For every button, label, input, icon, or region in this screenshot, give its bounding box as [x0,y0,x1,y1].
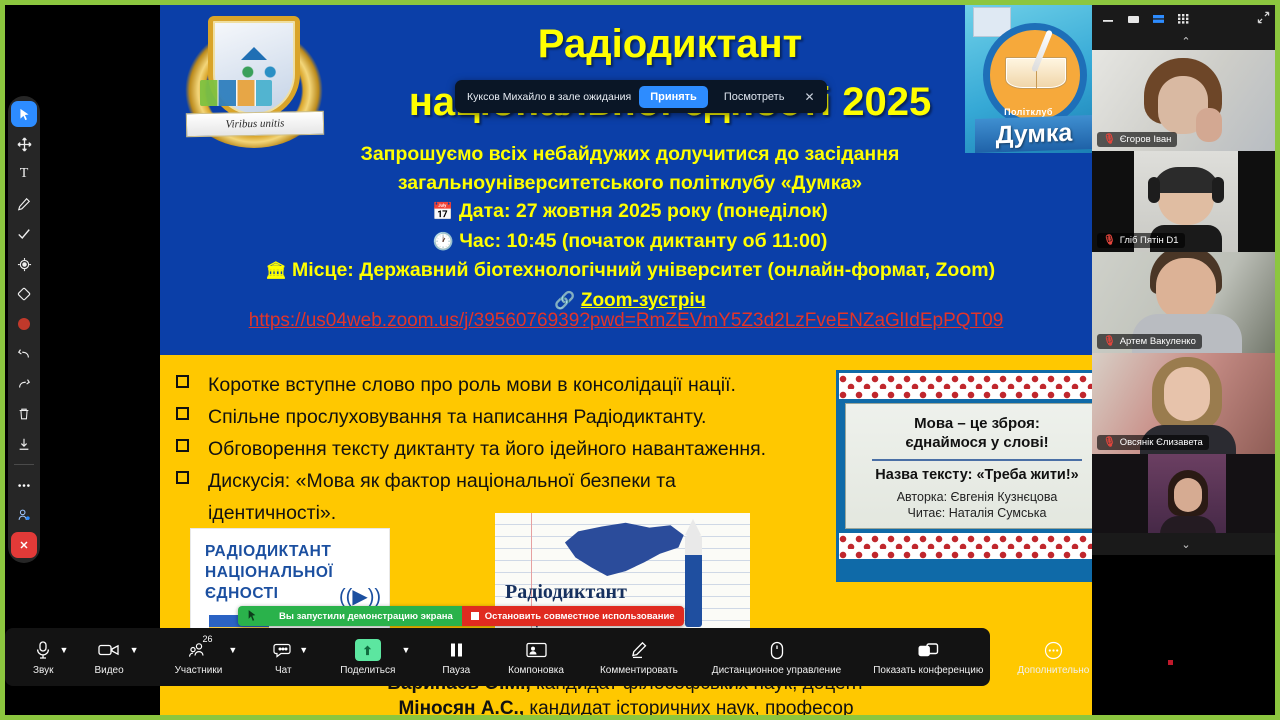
participant-name: Артем Вакуленко [1120,336,1196,347]
participant-name: Гліб Пятін D1 [1120,235,1179,246]
participant-name: Єгоров Іван [1120,134,1172,145]
participants-options-caret[interactable]: ▼ [228,645,241,669]
poster-b-line-1: Радіодиктант [505,579,627,605]
quote-card: Мова – це зброя: єднаймося у слові! Назв… [845,403,1092,529]
chat-bubble-icon [273,638,293,662]
list-item: Обговорення тексту диктанту та його ідей… [174,434,834,464]
chat-options-caret[interactable]: ▼ [299,645,312,669]
checkbox-square-icon [176,439,189,452]
participant-tile[interactable]: 🎙 Овсянік Єлизавета [1092,353,1280,454]
download-icon[interactable] [11,431,37,457]
participant-tile[interactable]: 🎙 Гліб Пятін D1 [1092,151,1280,252]
list-item: Коротке вступне слово про роль мови в ко… [174,370,834,400]
checkbox-square-icon [176,407,189,420]
participant-tile[interactable]: 🎙 Єгоров Іван [1092,50,1280,151]
cursor-icon [247,610,257,622]
more-button[interactable]: Дополнительно [1011,628,1095,686]
university-crest-icon: Viribus unitis [172,8,337,156]
microphone-icon [35,638,51,662]
checkmark-icon[interactable] [11,221,37,247]
camera-icon [98,638,120,662]
move-arrows-icon[interactable] [11,131,37,157]
gallery-grid-icon[interactable] [1177,13,1190,24]
remote-control-button[interactable]: Дистанционное управление [706,628,847,686]
participants-button[interactable]: 26 Участники [169,628,229,686]
pen-icon [685,535,702,627]
participant-name-badge: 🎙 Артем Вакуленко [1097,334,1202,349]
video-button[interactable]: Видео [88,628,129,686]
spotlight-icon[interactable] [11,251,37,277]
more-dots-icon [1044,638,1063,662]
participant-tile[interactable]: 🎙 Артем Вакуленко [1092,252,1280,353]
ukraine-map-icon [557,519,689,581]
person-icon[interactable] [11,502,37,528]
redo-arrow-icon[interactable] [11,371,37,397]
close-x-icon[interactable] [11,532,37,558]
calendar-icon: 📅 [432,202,453,221]
audio-button[interactable]: Звук [27,628,60,686]
quote-line-2: єднаймося у слові! [854,433,1092,452]
select-tool[interactable] [11,101,37,127]
slide-title-line1: Радіодиктант [350,15,990,73]
close-icon[interactable]: ✕ [800,90,818,104]
share-options-caret[interactable]: ▼ [401,645,414,669]
pause-button[interactable]: Пауза [436,628,476,686]
text-reader: Читає: Наталія Сумська [854,506,1092,520]
participants-video-strip: ⌃ 🎙 Єгоров Іван 🎙 Гліб Пятін D1 [1092,5,1280,555]
quote-line-1: Мова – це зброя: [854,414,1092,433]
list-item: Спільне прослуховування та написання Рад… [174,402,834,432]
video-label: Видео [94,665,123,676]
poster-a-line-2: НАЦІОНАЛЬНОЇ [205,562,333,583]
link-icon: 🔗 [554,291,575,310]
date-line: Дата: 27 жовтня 2025 року (понеділок) [459,200,828,222]
pause-icon [449,638,464,662]
share-screen-button[interactable]: Поделиться [334,628,401,686]
undo-arrow-icon[interactable] [11,341,37,367]
recording-indicator-dot [1168,660,1173,665]
chevron-down-icon[interactable]: ⌄ [1092,533,1280,555]
annotate-pencil-icon [630,638,648,662]
waiting-room-notification: Куксов Михайло в зале ожидания Принять П… [455,80,827,113]
stop-share-segment[interactable]: Остановить совместное использование [462,606,684,626]
text-t-icon[interactable]: T [11,161,37,187]
chevron-up-icon[interactable]: ⌃ [1092,32,1280,50]
time-line: Час: 10:45 (початок диктанту об 11:00) [459,230,827,252]
checkbox-square-icon [176,471,189,484]
list-item-label: Спільне прослуховування та написання Рад… [208,406,706,428]
eraser-icon[interactable] [11,281,37,307]
list-item-label: Обговорення тексту диктанту та його ідей… [208,438,766,460]
participant-name-badge: 🎙 Єгоров Іван [1097,132,1177,147]
pause-label: Пауза [442,665,470,676]
fullscreen-expand-icon[interactable] [1257,11,1270,27]
show-meeting-button[interactable]: Показать конференцию [867,628,989,686]
embroidery-pattern-top [839,373,1092,399]
zoom-shared-screen-window: Viribus unitis Радіодиктант національної… [0,0,1280,720]
mic-off-icon: 🎙 [1103,235,1116,246]
checkbox-square-icon [176,375,189,388]
show-meeting-label: Показать конференцию [873,665,983,676]
sharing-active-segment: Вы запустили демонстрацию экрана [238,606,462,626]
mic-off-icon: 🎙 [1103,437,1116,448]
mic-off-icon: 🎙 [1103,134,1116,145]
split-view-icon[interactable] [1152,14,1165,24]
layout-icon [526,638,547,662]
text-title: Назва тексту: «Треба жити!» [854,467,1092,483]
share-label: Поделиться [340,665,395,676]
participants-count-badge: 26 [202,634,212,644]
place-line: Місце: Державний біотехнологічний універ… [292,259,995,281]
participants-label: Участники [175,665,223,676]
video-options-caret[interactable]: ▼ [130,645,143,669]
invite-line-2: загальноуніверситетського політклубу «Ду… [220,169,1040,198]
waiting-room-message: Куксов Михайло в зале ожидания [467,91,631,103]
layout-button[interactable]: Компоновка [502,628,570,686]
zoom-meeting-link-label[interactable]: Zoom-зустріч [581,290,706,311]
text-author: Авторка: Євгенія Кузнєцова [854,490,1092,504]
list-item-label: Коротке вступне слово про роль мови в ко… [208,374,736,396]
embroidery-pattern-bottom [839,533,1092,559]
stop-share-label: Остановить совместное использование [485,611,675,622]
invite-line-1: Запрошуємо всіх небайдужих долучитися до… [220,140,1040,169]
slide-title: Радіодиктант національної єдності 2025 [350,15,990,131]
list-item: Дискусія: «Мова як фактор національної б… [174,466,834,496]
crest-motto: Viribus unitis [186,111,324,137]
politclub-emblem-icon: Політклуб Думка [965,5,1092,153]
accept-button[interactable]: Принять [639,86,708,108]
annotate-label: Комментировать [600,665,678,676]
quote-card-frame: Мова – це зброя: єднаймося у слові! Назв… [836,370,1092,582]
restore-icon[interactable] [1127,14,1140,24]
ellipsis-icon[interactable] [11,472,37,498]
divider [14,464,34,465]
zoom-meeting-toolbar: Звук ▼ Видео ▼ 26 Участники ▼ [5,628,990,686]
participant-name: Овсянік Єлизавета [1120,437,1203,448]
presenter-title: кандидат історичних наук, професор [529,698,853,715]
chat-button[interactable]: Чат [267,628,299,686]
chat-label: Чат [275,665,292,676]
divider [872,459,1082,461]
slide-body-text: Запрошуємо всіх небайдужих долучитися до… [220,140,1040,315]
pencil-icon[interactable] [11,191,37,217]
windows-icon [918,638,939,662]
strip-window-controls [1092,5,1280,32]
audio-options-caret[interactable]: ▼ [60,645,73,669]
clock-icon: 🕐 [433,232,454,251]
zoom-meeting-url[interactable]: https://us04web.zoom.us/j/3956076939?pwd… [160,310,1092,332]
sharing-status-text: Вы запустили демонстрацию экрана [279,611,453,622]
bank-icon: 🏛 [265,261,287,280]
poster-a-line-1: РАДІОДИКТАНТ [205,541,333,562]
presenter-name: Міносян А.С., [398,698,524,715]
minimize-icon[interactable] [1102,14,1115,24]
participant-name-badge: 🎙 Овсянік Єлизавета [1097,435,1209,450]
color-circle-icon[interactable] [11,311,37,337]
list-item-label: Дискусія: «Мова як фактор національної б… [208,470,676,492]
mouse-icon [770,638,784,662]
trash-icon[interactable] [11,401,37,427]
mic-off-icon: 🎙 [1103,336,1116,347]
view-button[interactable]: Посмотреть [716,86,793,108]
stop-square-icon [471,612,479,620]
share-screen-icon [355,638,381,662]
remote-control-label: Дистанционное управление [712,665,841,676]
more-label: Дополнительно [1017,665,1089,676]
agenda-list: Коротке вступне слово про роль мови в ко… [174,370,834,528]
annotate-button[interactable]: Комментировать [594,628,684,686]
audio-label: Звук [33,665,54,676]
poster-a-line-3: ЄДНОСТІ [205,583,333,604]
layout-label: Компоновка [508,665,564,676]
screen-share-status-bar: Вы запустили демонстрацию экрана Останов… [238,606,684,626]
annotation-toolbar: T [8,96,40,563]
participant-name-badge: 🎙 Гліб Пятін D1 [1097,233,1185,248]
